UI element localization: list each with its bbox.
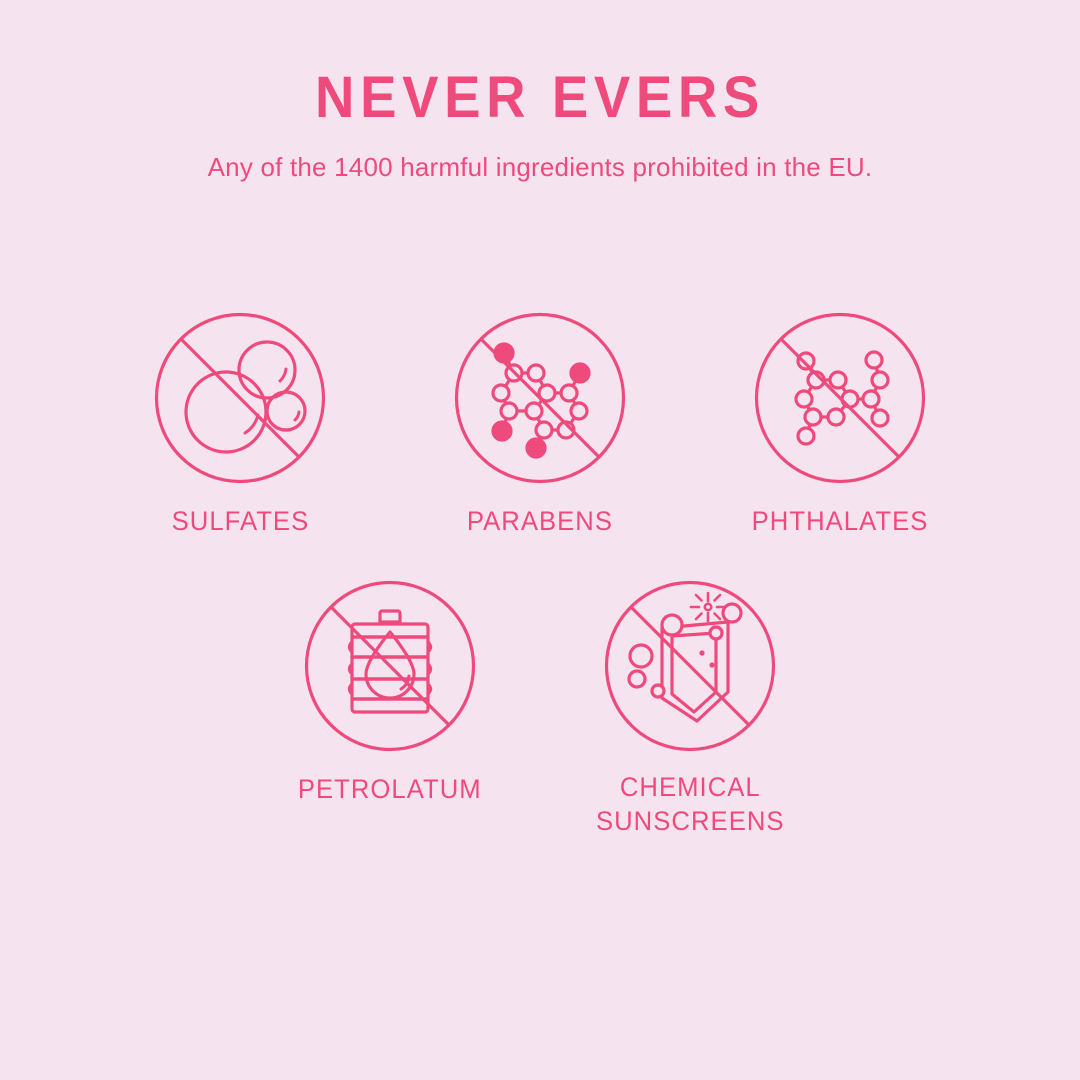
item-sulfates: SULFATES — [155, 312, 325, 539]
grid-row-1: SULFATES — [0, 312, 1080, 539]
item-parabens: PARABENS — [455, 312, 625, 539]
no-bubbles-icon — [154, 312, 326, 484]
no-chemical-sunscreen-icon — [604, 580, 776, 752]
no-oil-barrel-icon — [304, 580, 476, 752]
never-evers-grid: SULFATES — [0, 312, 1080, 839]
item-label-chemical-sunscreens: CHEMICAL SUNSCREENS — [596, 770, 785, 839]
no-molecule-outline-icon — [754, 312, 926, 484]
grid-row-2: PETROLATUM — [0, 580, 1080, 839]
never-evers-infographic: NEVER EVERS Any of the 1400 harmful ingr… — [0, 0, 1080, 1080]
item-label-petrolatum: PETROLATUM — [298, 772, 482, 807]
item-petrolatum: PETROLATUM — [305, 580, 475, 839]
no-molecule-filled-icon — [454, 312, 626, 484]
item-label-sulfates: SULFATES — [171, 504, 309, 539]
item-label-phthalates: PHTHALATES — [752, 504, 929, 539]
page-title: NEVER EVERS — [32, 66, 1047, 130]
item-chemical-sunscreens: CHEMICAL SUNSCREENS — [605, 580, 775, 839]
item-phthalates: PHTHALATES — [755, 312, 925, 539]
header: NEVER EVERS Any of the 1400 harmful ingr… — [0, 66, 1080, 183]
page-subtitle: Any of the 1400 harmful ingredients proh… — [0, 152, 1080, 183]
item-label-parabens: PARABENS — [467, 504, 613, 539]
